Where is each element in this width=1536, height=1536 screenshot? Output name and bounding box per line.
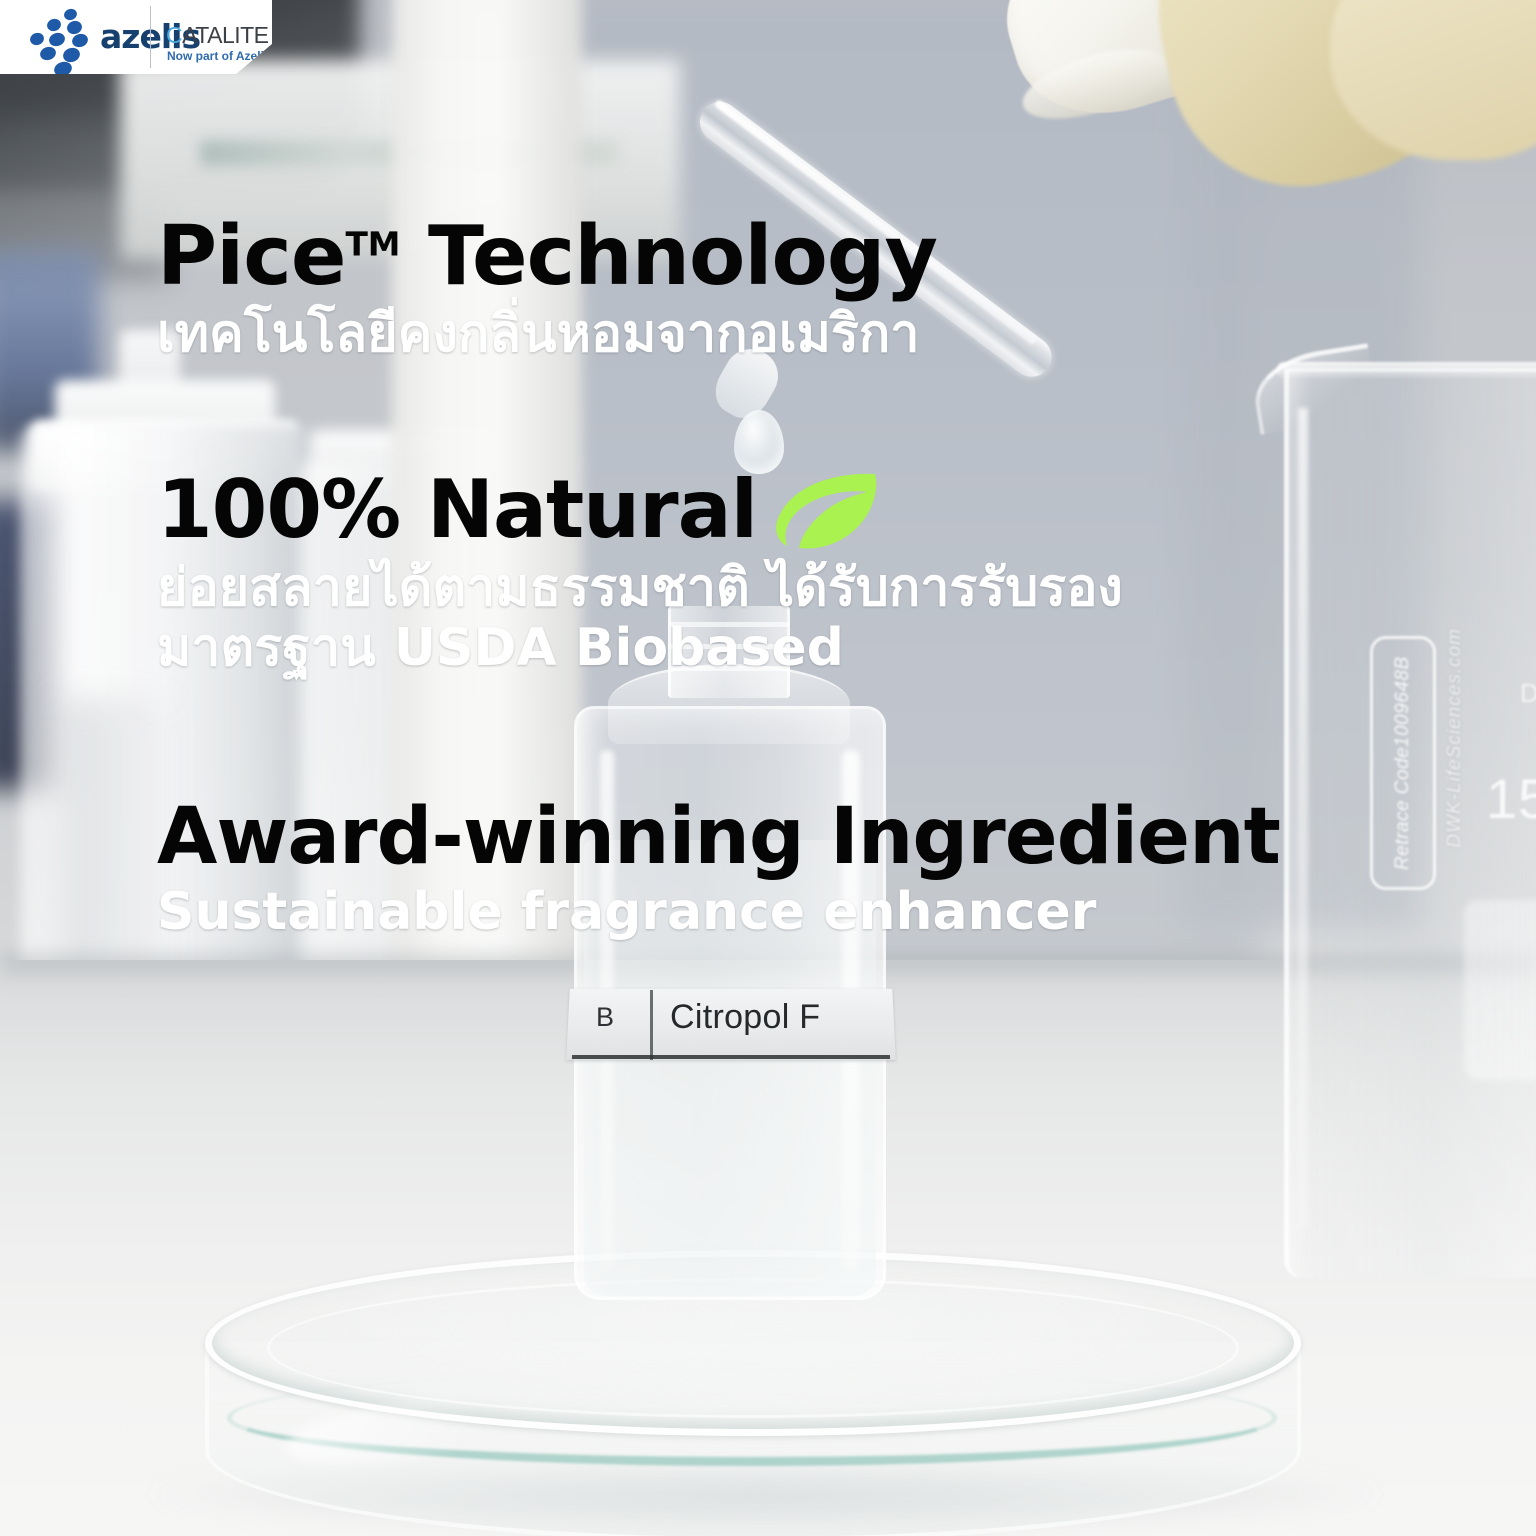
headline-natural-title: 100% Natural [157,470,757,550]
headline-block-award: Award-winning Ingredient Sustainable fra… [157,798,1280,940]
headline-natural-subtitle-line2: มาตรฐาน USDA Biobased [157,620,1123,676]
headline-technology-title-main: Pice [157,209,345,304]
headline-technology-subtitle: เทคโนโลยีคงกลิ่นหอมจากอเมริกา [157,306,937,362]
trademark-symbol: TM [345,226,400,264]
catalite-initial: C [166,22,182,48]
headline-natural-subtitle-line1: ย่อยสลายได้ตามธรรมชาติ ได้รับการรับรอง [157,560,1123,616]
logo-divider [150,6,151,68]
headline-technology-title: PiceTM Technology [157,216,937,298]
headline-natural-title-row: 100% Natural [157,470,1123,550]
headline-technology-title-tail: Technology [400,209,937,304]
headline-block-natural: 100% Natural ย่อยสลายได้ตามธรรมชาติ ได้ร… [157,470,1123,676]
azelis-dots-icon [30,9,98,65]
catalite-rest: ATALITE [182,22,268,48]
catalite-wordmark: CATALITE [166,22,269,49]
text-overlay: PiceTM Technology เทคโนโลยีคงกลิ่นหอมจาก… [0,0,1536,1536]
promotional-image: Retrace Code 1009648B DWK-LifeSciences.c… [0,0,1536,1536]
headline-award-title: Award-winning Ingredient [157,798,1280,876]
headline-block-technology: PiceTM Technology เทคโนโลยีคงกลิ่นหอมจาก… [157,216,937,362]
headline-award-subtitle: Sustainable fragrance enhancer [157,884,1280,940]
logo-badge[interactable]: azelis CATALITE Now part of Azelis [0,0,272,74]
leaf-icon [771,470,879,550]
